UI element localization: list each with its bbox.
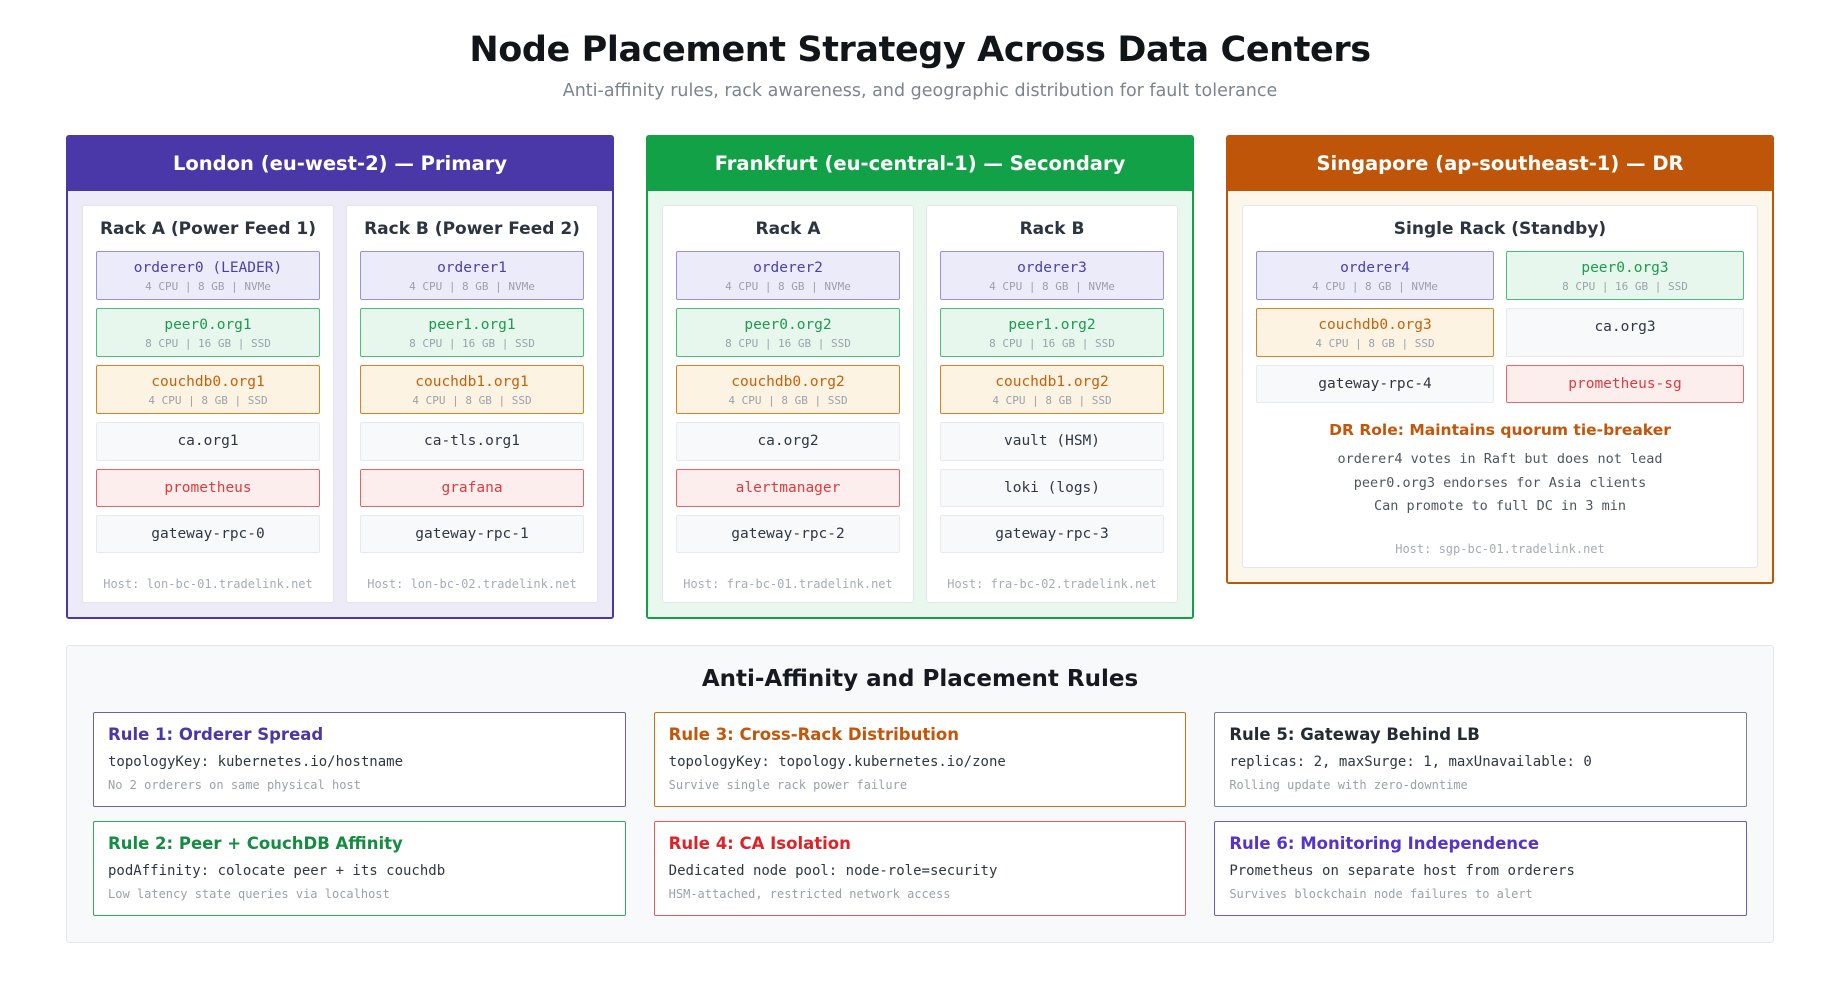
node-list: orderer0 (LEADER)4 CPU | 8 GB | NVMepeer… <box>96 251 320 553</box>
rule-spec: podAffinity: colocate peer + its couchdb <box>108 862 611 881</box>
datacenter-card-frankfurt: Frankfurt (eu-central-1) — SecondaryRack… <box>646 135 1194 619</box>
datacenter-card-london: London (eu-west-2) — PrimaryRack A (Powe… <box>66 135 614 619</box>
node-name: gateway-rpc-2 <box>681 525 895 543</box>
rule-note: No 2 orderers on same physical host <box>108 777 611 793</box>
node-card[interactable]: grafana <box>360 469 584 507</box>
node-list: orderer14 CPU | 8 GB | NVMepeer1.org18 C… <box>360 251 584 553</box>
rule-spec: topologyKey: topology.kubernetes.io/zone <box>669 753 1172 772</box>
node-card[interactable]: orderer0 (LEADER)4 CPU | 8 GB | NVMe <box>96 251 320 300</box>
node-card[interactable]: ca-tls.org1 <box>360 422 584 460</box>
node-spec: 8 CPU | 16 GB | SSD <box>365 337 579 350</box>
rack-title: Rack B (Power Feed 2) <box>360 219 584 239</box>
rack-spacer <box>96 553 320 563</box>
rack-host-label: Host: sgp-bc-01.tradelink.net <box>1256 542 1744 556</box>
node-spec: 4 CPU | 8 GB | NVMe <box>1261 280 1489 293</box>
rule-spec: Prometheus on separate host from orderer… <box>1229 862 1732 881</box>
node-name: orderer1 <box>365 259 579 277</box>
node-card[interactable]: loki (logs) <box>940 469 1164 507</box>
node-spec: 4 CPU | 8 GB | SSD <box>365 394 579 407</box>
rack-host-label: Host: lon-bc-01.tradelink.net <box>96 577 320 591</box>
rule-card[interactable]: Rule 1: Orderer SpreadtopologyKey: kuber… <box>93 712 626 807</box>
rule-title: Rule 6: Monitoring Independence <box>1229 834 1732 853</box>
node-card[interactable]: prometheus-sg <box>1506 365 1744 403</box>
node-card[interactable]: alertmanager <box>676 469 900 507</box>
node-card[interactable]: couchdb1.org24 CPU | 8 GB | SSD <box>940 365 1164 414</box>
rack-card: Single Rack (Standby)orderer44 CPU | 8 G… <box>1242 205 1758 568</box>
rack-spacer <box>676 553 900 563</box>
node-name: vault (HSM) <box>945 432 1159 450</box>
dr-role-note-line: peer0.org3 endorses for Asia clients <box>1256 472 1744 495</box>
node-card[interactable]: gateway-rpc-2 <box>676 515 900 553</box>
node-card[interactable]: peer0.org18 CPU | 16 GB | SSD <box>96 308 320 357</box>
rule-card[interactable]: Rule 4: CA IsolationDedicated node pool:… <box>654 821 1187 916</box>
dr-role-note-title: DR Role: Maintains quorum tie-breaker <box>1256 421 1744 439</box>
node-spec: 4 CPU | 8 GB | SSD <box>945 394 1159 407</box>
rule-title: Rule 3: Cross-Rack Distribution <box>669 725 1172 744</box>
node-spec: 8 CPU | 16 GB | SSD <box>1511 280 1739 293</box>
node-spec: 8 CPU | 16 GB | SSD <box>681 337 895 350</box>
node-name: ca.org2 <box>681 432 895 450</box>
datacenter-header-london: London (eu-west-2) — Primary <box>68 137 612 191</box>
rack-title: Rack B <box>940 219 1164 239</box>
node-card[interactable]: gateway-rpc-3 <box>940 515 1164 553</box>
rack-spacer <box>940 553 1164 563</box>
node-card[interactable]: ca.org3 <box>1506 308 1744 357</box>
node-name: alertmanager <box>681 479 895 497</box>
node-name: gateway-rpc-1 <box>365 525 579 543</box>
rule-spec: replicas: 2, maxSurge: 1, maxUnavailable… <box>1229 753 1732 772</box>
node-card[interactable]: ca.org1 <box>96 422 320 460</box>
node-card[interactable]: peer0.org28 CPU | 16 GB | SSD <box>676 308 900 357</box>
node-name: couchdb1.org2 <box>945 373 1159 391</box>
node-name: peer0.org1 <box>101 316 315 334</box>
node-card[interactable]: couchdb1.org14 CPU | 8 GB | SSD <box>360 365 584 414</box>
node-name: peer1.org1 <box>365 316 579 334</box>
rule-card[interactable]: Rule 2: Peer + CouchDB AffinitypodAffini… <box>93 821 626 916</box>
datacenter-body-singapore: Single Rack (Standby)orderer44 CPU | 8 G… <box>1228 191 1772 582</box>
rack-host-label: Host: fra-bc-02.tradelink.net <box>940 577 1164 591</box>
rack-card: Rack B (Power Feed 2)orderer14 CPU | 8 G… <box>346 205 598 603</box>
node-card[interactable]: peer1.org18 CPU | 16 GB | SSD <box>360 308 584 357</box>
node-name: couchdb0.org3 <box>1261 316 1489 334</box>
rack-title: Rack A (Power Feed 1) <box>96 219 320 239</box>
rule-note: Rolling update with zero-downtime <box>1229 777 1732 793</box>
node-name: couchdb0.org1 <box>101 373 315 391</box>
node-spec: 8 CPU | 16 GB | SSD <box>945 337 1159 350</box>
node-list: orderer44 CPU | 8 GB | NVMepeer0.org38 C… <box>1256 251 1744 403</box>
rack-card: Rack Aorderer24 CPU | 8 GB | NVMepeer0.o… <box>662 205 914 603</box>
rack-title: Single Rack (Standby) <box>1256 219 1744 239</box>
node-name: grafana <box>365 479 579 497</box>
dr-role-note-line: Can promote to full DC in 3 min <box>1256 495 1744 518</box>
node-name: prometheus-sg <box>1511 375 1739 393</box>
node-card[interactable]: couchdb0.org14 CPU | 8 GB | SSD <box>96 365 320 414</box>
node-card[interactable]: peer0.org38 CPU | 16 GB | SSD <box>1506 251 1744 300</box>
rule-note: HSM-attached, restricted network access <box>669 886 1172 902</box>
node-card[interactable]: ca.org2 <box>676 422 900 460</box>
rule-spec: topologyKey: kubernetes.io/hostname <box>108 753 611 772</box>
node-name: loki (logs) <box>945 479 1159 497</box>
node-card[interactable]: gateway-rpc-1 <box>360 515 584 553</box>
rule-note: Survive single rack power failure <box>669 777 1172 793</box>
node-card[interactable]: orderer24 CPU | 8 GB | NVMe <box>676 251 900 300</box>
node-card[interactable]: vault (HSM) <box>940 422 1164 460</box>
rule-title: Rule 1: Orderer Spread <box>108 725 611 744</box>
rule-card[interactable]: Rule 3: Cross-Rack DistributiontopologyK… <box>654 712 1187 807</box>
node-name: orderer0 (LEADER) <box>101 259 315 277</box>
node-name: gateway-rpc-0 <box>101 525 315 543</box>
rules-grid: Rule 1: Orderer SpreadtopologyKey: kuber… <box>93 712 1747 916</box>
node-name: peer0.org3 <box>1511 259 1739 277</box>
node-name: gateway-rpc-3 <box>945 525 1159 543</box>
node-card[interactable]: couchdb0.org34 CPU | 8 GB | SSD <box>1256 308 1494 357</box>
rule-title: Rule 5: Gateway Behind LB <box>1229 725 1732 744</box>
node-name: prometheus <box>101 479 315 497</box>
page-title: Node Placement Strategy Across Data Cent… <box>66 30 1774 70</box>
page-root: Node Placement Strategy Across Data Cent… <box>0 0 1840 1004</box>
node-card[interactable]: orderer44 CPU | 8 GB | NVMe <box>1256 251 1494 300</box>
node-card[interactable]: couchdb0.org24 CPU | 8 GB | SSD <box>676 365 900 414</box>
node-card[interactable]: prometheus <box>96 469 320 507</box>
rack-title: Rack A <box>676 219 900 239</box>
rack-card: Rack Borderer34 CPU | 8 GB | NVMepeer1.o… <box>926 205 1178 603</box>
node-name: ca.org1 <box>101 432 315 450</box>
node-name: couchdb1.org1 <box>365 373 579 391</box>
rule-title: Rule 4: CA Isolation <box>669 834 1172 853</box>
rule-spec: Dedicated node pool: node-role=security <box>669 862 1172 881</box>
node-spec: 8 CPU | 16 GB | SSD <box>101 337 315 350</box>
datacenter-card-singapore: Singapore (ap-southeast-1) — DRSingle Ra… <box>1226 135 1774 584</box>
datacenter-body-frankfurt: Rack Aorderer24 CPU | 8 GB | NVMepeer0.o… <box>648 191 1192 617</box>
rack-spacer <box>360 553 584 563</box>
node-spec: 4 CPU | 8 GB | NVMe <box>945 280 1159 293</box>
node-name: orderer3 <box>945 259 1159 277</box>
node-name: couchdb0.org2 <box>681 373 895 391</box>
dr-role-note: DR Role: Maintains quorum tie-breakerord… <box>1256 421 1744 518</box>
node-card[interactable]: orderer34 CPU | 8 GB | NVMe <box>940 251 1164 300</box>
node-name: ca.org3 <box>1511 318 1739 336</box>
node-spec: 4 CPU | 8 GB | NVMe <box>101 280 315 293</box>
node-name: orderer4 <box>1261 259 1489 277</box>
rules-section-title: Anti-Affinity and Placement Rules <box>93 666 1747 692</box>
rule-title: Rule 2: Peer + CouchDB Affinity <box>108 834 611 853</box>
page-subtitle: Anti-affinity rules, rack awareness, and… <box>66 81 1774 101</box>
node-card[interactable]: orderer14 CPU | 8 GB | NVMe <box>360 251 584 300</box>
rule-note: Survives blockchain node failures to ale… <box>1229 886 1732 902</box>
node-name: orderer2 <box>681 259 895 277</box>
datacenter-body-london: Rack A (Power Feed 1)orderer0 (LEADER)4 … <box>68 191 612 617</box>
node-list: orderer24 CPU | 8 GB | NVMepeer0.org28 C… <box>676 251 900 553</box>
rack-card: Rack A (Power Feed 1)orderer0 (LEADER)4 … <box>82 205 334 603</box>
node-card[interactable]: gateway-rpc-0 <box>96 515 320 553</box>
rule-card[interactable]: Rule 5: Gateway Behind LBreplicas: 2, ma… <box>1214 712 1747 807</box>
rule-card[interactable]: Rule 6: Monitoring IndependencePrometheu… <box>1214 821 1747 916</box>
node-spec: 4 CPU | 8 GB | SSD <box>1261 337 1489 350</box>
node-name: peer0.org2 <box>681 316 895 334</box>
rack-spacer <box>1256 518 1744 528</box>
node-name: ca-tls.org1 <box>365 432 579 450</box>
node-spec: 4 CPU | 8 GB | SSD <box>681 394 895 407</box>
rack-host-label: Host: lon-bc-02.tradelink.net <box>360 577 584 591</box>
node-card[interactable]: peer1.org28 CPU | 16 GB | SSD <box>940 308 1164 357</box>
datacenter-header-frankfurt: Frankfurt (eu-central-1) — Secondary <box>648 137 1192 191</box>
node-spec: 4 CPU | 8 GB | SSD <box>101 394 315 407</box>
node-spec: 4 CPU | 8 GB | NVMe <box>681 280 895 293</box>
rule-note: Low latency state queries via localhost <box>108 886 611 902</box>
node-spec: 4 CPU | 8 GB | NVMe <box>365 280 579 293</box>
node-name: gateway-rpc-4 <box>1261 375 1489 393</box>
rules-section: Anti-Affinity and Placement Rules Rule 1… <box>66 645 1774 943</box>
node-name: peer1.org2 <box>945 316 1159 334</box>
datacenter-row: London (eu-west-2) — PrimaryRack A (Powe… <box>66 135 1774 619</box>
node-list: orderer34 CPU | 8 GB | NVMepeer1.org28 C… <box>940 251 1164 553</box>
rack-host-label: Host: fra-bc-01.tradelink.net <box>676 577 900 591</box>
node-card[interactable]: gateway-rpc-4 <box>1256 365 1494 403</box>
datacenter-header-singapore: Singapore (ap-southeast-1) — DR <box>1228 137 1772 191</box>
dr-role-note-line: orderer4 votes in Raft but does not lead <box>1256 448 1744 471</box>
